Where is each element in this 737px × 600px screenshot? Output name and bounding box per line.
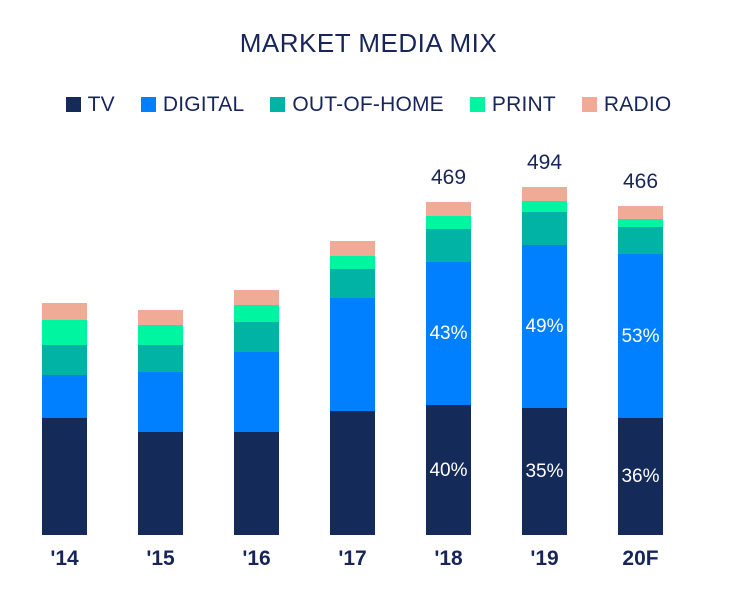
x-axis-label: '19	[530, 548, 558, 569]
segment-value-label: 49%	[525, 317, 563, 336]
bar-segment-print[interactable]	[234, 305, 279, 322]
bar-segment-print[interactable]	[138, 325, 183, 345]
chart-root: MARKET MEDIA MIX TVDIGITALOUT-OF-HOMEPRI…	[0, 0, 737, 600]
bar-segment-out-of-home[interactable]	[330, 269, 375, 298]
x-axis-label: '14	[50, 548, 78, 569]
bar-segment-radio[interactable]	[618, 206, 663, 219]
bar-segment-tv[interactable]	[138, 432, 183, 535]
bar-group[interactable]: '16	[234, 290, 279, 535]
bar-segment-digital[interactable]	[234, 352, 279, 432]
bar-group[interactable]: 40%43%469'18	[426, 202, 471, 535]
bar-stack: 35%49%	[522, 187, 567, 535]
bar-segment-radio[interactable]	[426, 202, 471, 216]
bar-total-label: 494	[527, 152, 562, 173]
bar-group[interactable]: '15	[138, 310, 183, 535]
bar-segment-radio[interactable]	[522, 187, 567, 201]
segment-value-label: 53%	[621, 327, 659, 346]
segment-value-label: 35%	[525, 462, 563, 481]
x-axis-label: 20F	[622, 548, 658, 569]
x-axis-label: '16	[242, 548, 270, 569]
bar-group[interactable]: 36%53%46620F	[618, 206, 663, 535]
segment-value-label: 36%	[621, 467, 659, 486]
bar-stack	[330, 241, 375, 535]
bar-segment-radio[interactable]	[42, 303, 87, 320]
segment-value-label: 40%	[429, 461, 467, 480]
bar-segment-out-of-home[interactable]	[522, 212, 567, 245]
bar-group[interactable]: 35%49%494'19	[522, 187, 567, 535]
bar-segment-out-of-home[interactable]	[618, 227, 663, 254]
bar-segment-radio[interactable]	[138, 310, 183, 325]
bar-segment-out-of-home[interactable]	[234, 322, 279, 352]
x-axis-label: '17	[338, 548, 366, 569]
bar-segment-tv[interactable]	[330, 411, 375, 535]
bar-stack	[234, 290, 279, 535]
bar-segment-print[interactable]	[42, 320, 87, 345]
bar-segment-out-of-home[interactable]	[138, 345, 183, 372]
bar-group[interactable]: '17	[330, 241, 375, 535]
segment-value-label: 43%	[429, 324, 467, 343]
bar-segment-radio[interactable]	[234, 290, 279, 305]
bar-segment-digital[interactable]: 43%	[426, 262, 471, 405]
bar-segment-out-of-home[interactable]	[42, 345, 87, 375]
bar-segment-tv[interactable]: 36%	[618, 418, 663, 535]
bar-group[interactable]: '14	[42, 303, 87, 535]
bar-segment-digital[interactable]	[138, 372, 183, 432]
bar-segment-tv[interactable]	[42, 418, 87, 535]
bar-segment-digital[interactable]: 49%	[522, 245, 567, 408]
bar-segment-radio[interactable]	[330, 241, 375, 256]
bar-total-label: 469	[431, 167, 466, 188]
x-axis-label: '15	[146, 548, 174, 569]
bar-segment-print[interactable]	[330, 256, 375, 269]
bar-segment-tv[interactable]: 35%	[522, 408, 567, 535]
plot-area: '14'15'16'1740%43%469'1835%49%494'1936%5…	[0, 0, 737, 600]
bar-stack	[138, 310, 183, 535]
bar-total-label: 466	[623, 171, 658, 192]
bar-segment-tv[interactable]: 40%	[426, 405, 471, 535]
bar-segment-digital[interactable]	[330, 298, 375, 411]
bar-segment-tv[interactable]	[234, 432, 279, 535]
bar-stack: 36%53%	[618, 206, 663, 535]
x-axis-label: '18	[434, 548, 462, 569]
bar-segment-out-of-home[interactable]	[426, 229, 471, 262]
bar-stack	[42, 303, 87, 535]
bar-segment-print[interactable]	[522, 201, 567, 212]
bar-segment-print[interactable]	[426, 216, 471, 229]
bar-stack: 40%43%	[426, 202, 471, 535]
bar-segment-digital[interactable]	[42, 375, 87, 418]
bar-segment-digital[interactable]: 53%	[618, 254, 663, 418]
bar-segment-print[interactable]	[618, 219, 663, 227]
